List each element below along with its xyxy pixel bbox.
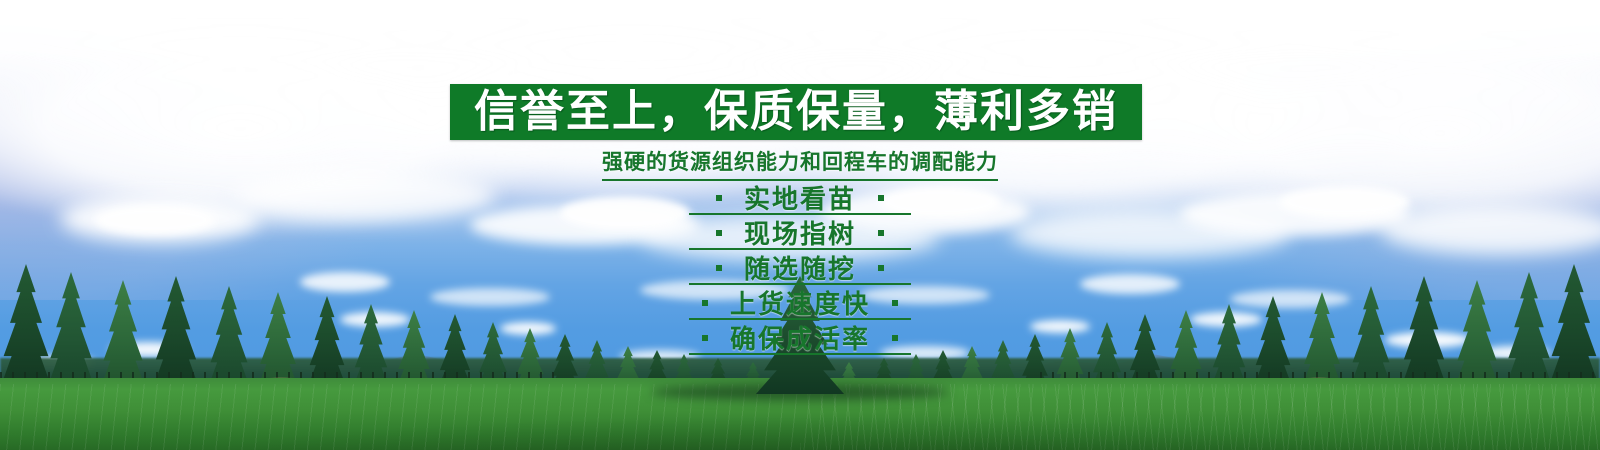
feature-item-5: 确保成活率 [0, 320, 1600, 355]
feature-label: 确保成活率 [730, 319, 870, 356]
bullet-dot-icon [702, 335, 708, 341]
bullet-dot-icon [892, 335, 898, 341]
headline-bar: 信誉至上，保质保量，薄利多销 [450, 84, 1142, 140]
subtitle-row: 强硬的货源组织能力和回程车的调配能力 [0, 146, 1600, 181]
banner-content: 信誉至上，保质保量，薄利多销 强硬的货源组织能力和回程车的调配能力 实地看苗 现… [0, 0, 1600, 450]
bullet-dot-icon [878, 195, 884, 201]
feature-item-4: 上货速度快 [0, 285, 1600, 320]
headline-text: 信誉至上，保质保量，薄利多销 [450, 84, 1142, 140]
bullet-dot-icon [892, 300, 898, 306]
bullet-dot-icon [716, 265, 722, 271]
feature-item-2: 现场指树 [0, 215, 1600, 250]
feature-item-3: 随选随挖 [0, 250, 1600, 285]
bullet-dot-icon [716, 230, 722, 236]
bullet-dot-icon [716, 195, 722, 201]
feature-label: 随选随挖 [744, 249, 856, 286]
feature-list: 实地看苗 现场指树 随选随挖 上货速度快 [0, 180, 1600, 355]
feature-divider [689, 353, 911, 355]
feature-label: 上货速度快 [730, 284, 870, 321]
bullet-dot-icon [878, 230, 884, 236]
bullet-dot-icon [702, 300, 708, 306]
bullet-dot-icon [878, 265, 884, 271]
subtitle-text: 强硬的货源组织能力和回程车的调配能力 [602, 146, 998, 181]
feature-item-1: 实地看苗 [0, 180, 1600, 215]
promo-banner: 信誉至上，保质保量，薄利多销 强硬的货源组织能力和回程车的调配能力 实地看苗 现… [0, 0, 1600, 450]
feature-label: 实地看苗 [744, 179, 856, 216]
feature-label: 现场指树 [744, 214, 856, 251]
